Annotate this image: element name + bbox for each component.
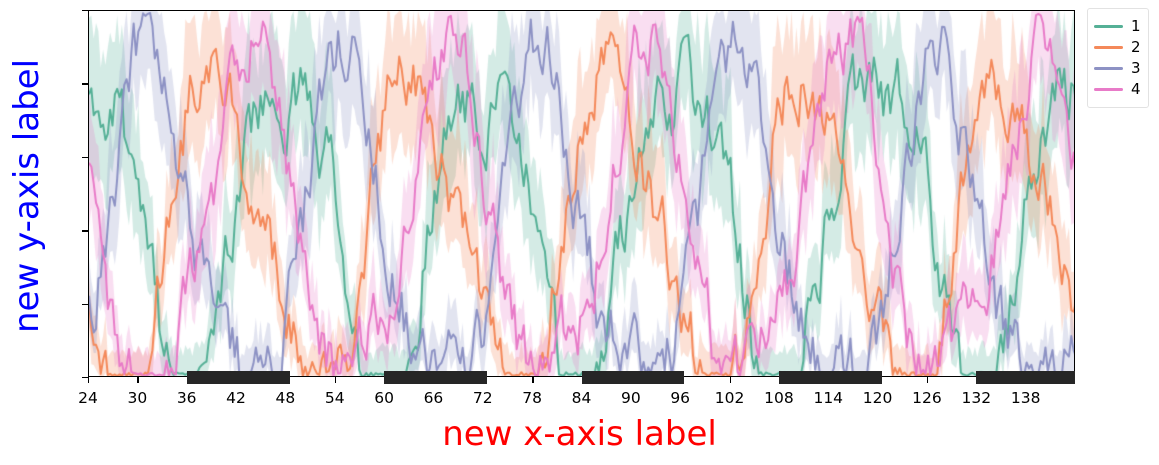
event-bar: [582, 371, 685, 384]
y-axis-label: new y-axis label: [7, 6, 47, 386]
legend-item-2[interactable]: 2: [1094, 37, 1142, 58]
legend-label: 2: [1131, 40, 1141, 55]
legend-item-1[interactable]: 1: [1094, 16, 1142, 37]
y-tick-mark: [82, 10, 88, 11]
legend-item-3[interactable]: 3: [1094, 58, 1142, 79]
plot-area: [88, 10, 1075, 377]
legend-color-swatch: [1094, 67, 1123, 70]
event-bar: [976, 371, 1075, 384]
legend-label: 1: [1131, 19, 1141, 34]
x-tick-label: 138: [996, 389, 1056, 407]
event-bar: [187, 371, 290, 384]
y-tick-mark: [82, 157, 88, 158]
y-tick-mark: [82, 83, 88, 84]
y-tick-mark: [82, 230, 88, 231]
x-axis-label: new x-axis label: [0, 414, 1159, 454]
event-bar: [779, 371, 882, 384]
series-plot-canvas: [89, 11, 1075, 377]
x-tick-mark: [927, 377, 928, 383]
figure-canvas: 0.00.20.40.60.81.0 243036424854606672788…: [0, 0, 1159, 465]
legend-label: 4: [1131, 82, 1141, 97]
legend-label: 3: [1131, 61, 1141, 76]
x-tick-mark: [730, 377, 731, 383]
legend[interactable]: 1234: [1087, 8, 1149, 108]
legend-color-swatch: [1094, 25, 1123, 28]
event-bar: [384, 371, 487, 384]
y-tick-mark: [82, 304, 88, 305]
x-tick-mark: [88, 377, 89, 383]
legend-item-4[interactable]: 4: [1094, 79, 1142, 100]
x-tick-mark: [532, 377, 533, 383]
x-tick-mark: [335, 377, 336, 383]
legend-color-swatch: [1094, 88, 1123, 91]
x-tick-mark: [137, 377, 138, 383]
legend-color-swatch: [1094, 46, 1123, 49]
